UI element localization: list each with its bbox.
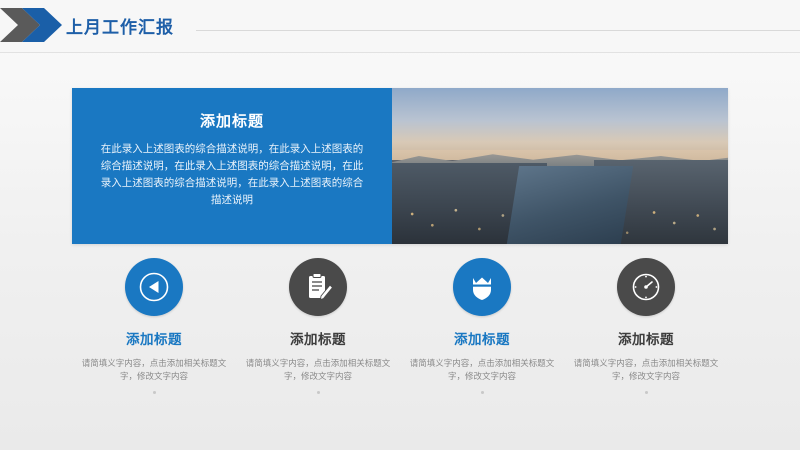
photo-sky-layer <box>392 88 728 160</box>
header-divider <box>196 30 800 31</box>
feature-desc-4: 请简填义字内容，点击添加相关标题文字，修改文字内容 <box>572 357 720 383</box>
feature-item-2[interactable]: 添加标题 请简填义字内容，点击添加相关标题文字，修改文字内容 <box>236 258 400 408</box>
feature-desc-2: 请简填义字内容，点击添加相关标题文字，修改文字内容 <box>244 357 392 383</box>
slide: 上月工作汇报 添加标题 在此录入上述图表的综合描述说明，在此录入上述图表的综合描… <box>0 0 800 450</box>
play-triangle-icon <box>137 270 171 304</box>
feature-item-4[interactable]: 添加标题 请简填义字内容，点击添加相关标题文字，修改文字内容 <box>564 258 728 408</box>
feature-row: 添加标题 请简填义字内容，点击添加相关标题文字，修改文字内容 添加标题 <box>72 258 728 408</box>
banner: 添加标题 在此录入上述图表的综合描述说明，在此录入上述图表的综合描述说明，在此录… <box>72 88 728 244</box>
city-river-dusk-photo <box>392 88 728 244</box>
feature-dot-4 <box>645 391 648 394</box>
feature-item-1[interactable]: 添加标题 请简填义字内容，点击添加相关标题文字，修改文字内容 <box>72 258 236 408</box>
speedometer-icon <box>629 270 663 304</box>
banner-body-text: 在此录入上述图表的综合描述说明，在此录入上述图表的综合描述说明，在此录入上述图表… <box>94 141 370 209</box>
banner-text-panel: 添加标题 在此录入上述图表的综合描述说明，在此录入上述图表的综合描述说明，在此录… <box>72 88 392 244</box>
feature-icon-circle-3[interactable] <box>453 258 511 316</box>
feature-dot-2 <box>317 391 320 394</box>
double-chevron-arrow-icon <box>0 8 62 42</box>
shield-crown-icon <box>465 270 499 304</box>
feature-dot-1 <box>153 391 156 394</box>
feature-item-3[interactable]: 添加标题 请简填义字内容，点击添加相关标题文字，修改文字内容 <box>400 258 564 408</box>
feature-title-4: 添加标题 <box>618 328 674 348</box>
feature-dot-3 <box>481 391 484 394</box>
feature-title-2: 添加标题 <box>290 328 346 348</box>
feature-icon-circle-1[interactable] <box>125 258 183 316</box>
slide-header: 上月工作汇报 <box>0 0 800 53</box>
feature-title-1: 添加标题 <box>126 328 182 348</box>
banner-title: 添加标题 <box>94 110 370 131</box>
clipboard-pen-icon <box>301 270 335 304</box>
feature-title-3: 添加标题 <box>454 328 510 348</box>
feature-desc-3: 请简填义字内容，点击添加相关标题文字，修改文字内容 <box>408 357 556 383</box>
feature-icon-circle-2[interactable] <box>289 258 347 316</box>
feature-icon-circle-4[interactable] <box>617 258 675 316</box>
feature-desc-1: 请简填义字内容，点击添加相关标题文字，修改文字内容 <box>80 357 228 383</box>
photo-city-lights-layer <box>392 169 728 244</box>
page-title: 上月工作汇报 <box>66 13 174 38</box>
